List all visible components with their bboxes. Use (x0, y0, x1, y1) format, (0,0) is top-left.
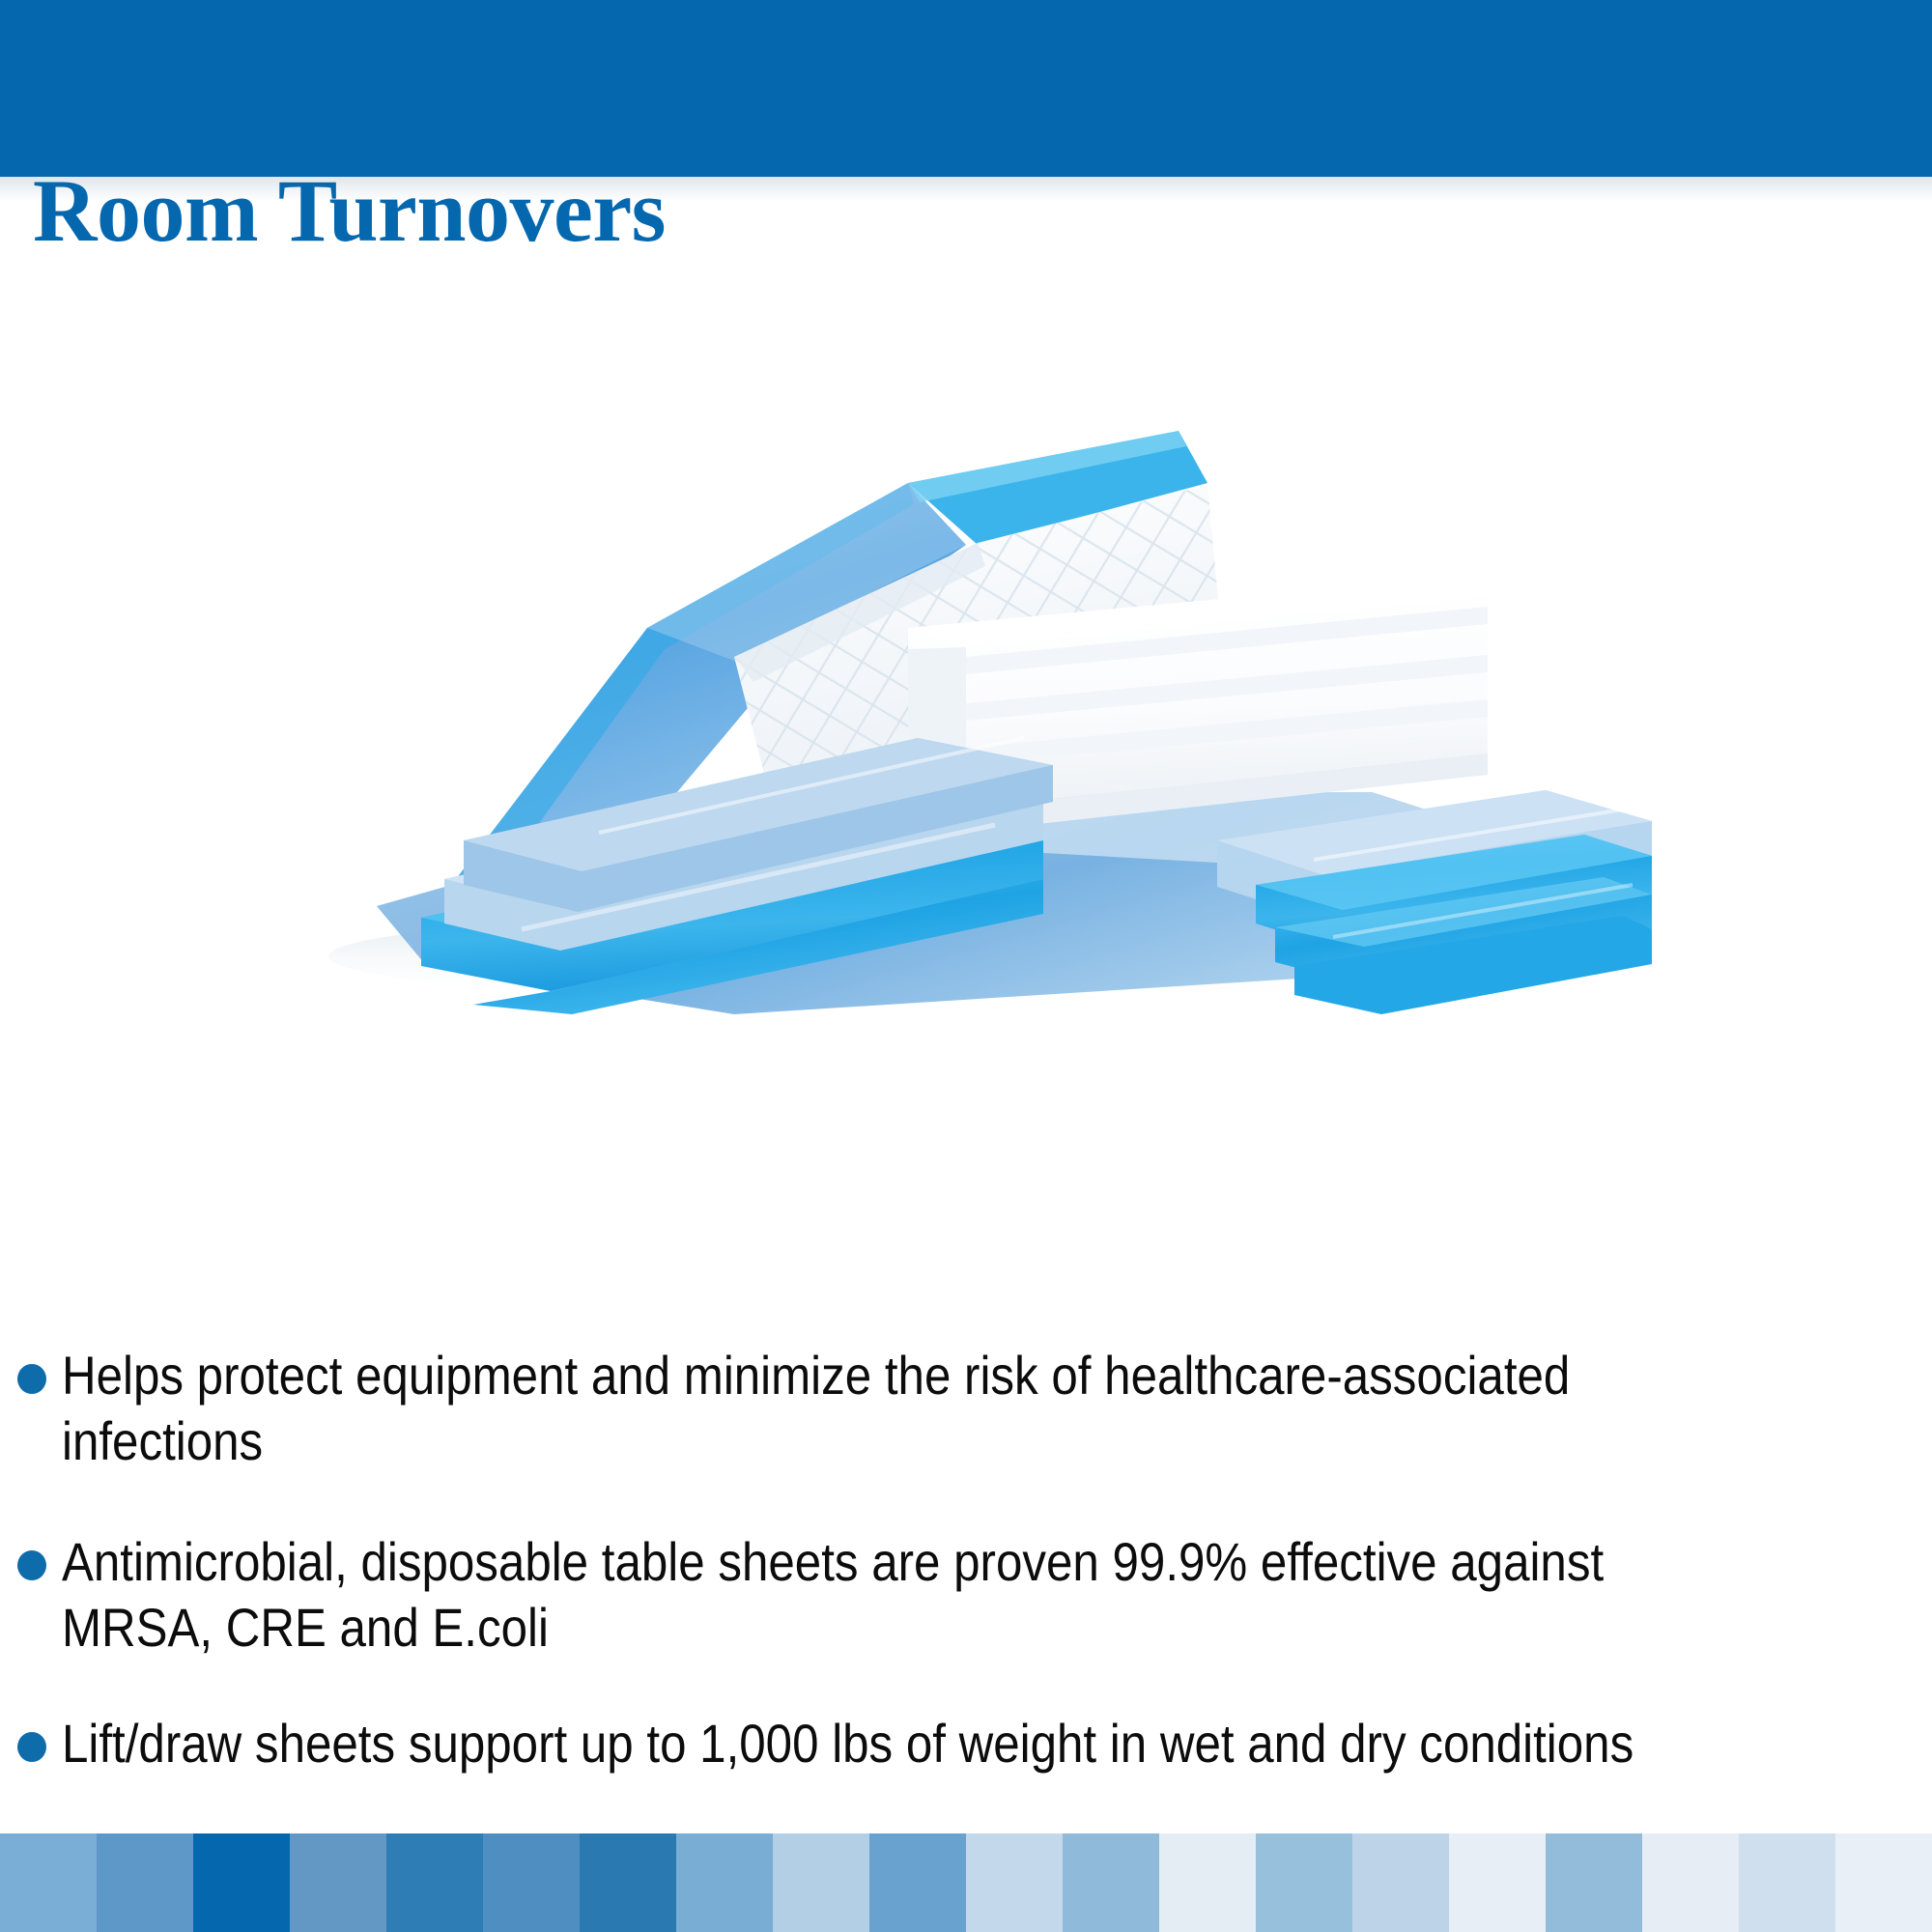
slide-root: Room Turnovers (0, 0, 1932, 1932)
list-item: Antimicrobial, disposable table sheets a… (0, 1529, 1932, 1662)
product-photo (232, 338, 1700, 1014)
color-swatch-3 (193, 1833, 290, 1932)
color-swatch-16 (1449, 1833, 1546, 1932)
bullet-list: Helps protect equipment and minimize the… (0, 1343, 1932, 1832)
header-band (0, 0, 1932, 177)
color-swatch-5 (386, 1833, 483, 1932)
color-swatch-8 (676, 1833, 773, 1932)
color-swatch-18 (1642, 1833, 1739, 1932)
color-swatch-11 (966, 1833, 1063, 1932)
color-swatch-6 (483, 1833, 580, 1932)
bullet-dot-icon (17, 1550, 46, 1580)
list-item: Lift/draw sheets support up to 1,000 lbs… (0, 1711, 1932, 1776)
footer-color-strip (0, 1833, 1932, 1932)
product-photo-illustration (232, 338, 1700, 1014)
color-swatch-4 (290, 1833, 386, 1932)
color-swatch-14 (1256, 1833, 1352, 1932)
color-swatch-15 (1352, 1833, 1449, 1932)
color-swatch-9 (773, 1833, 869, 1932)
bullet-text-1: Helps protect equipment and minimize the… (62, 1343, 1677, 1475)
color-swatch-19 (1739, 1833, 1835, 1932)
bullet-text-3: Lift/draw sheets support up to 1,000 lbs… (62, 1711, 1634, 1776)
color-swatch-2 (97, 1833, 193, 1932)
bullet-dot-icon (17, 1732, 46, 1762)
color-swatch-17 (1546, 1833, 1642, 1932)
color-swatch-10 (869, 1833, 966, 1932)
color-swatch-1 (0, 1833, 97, 1932)
color-swatch-20 (1835, 1833, 1932, 1932)
page-title: Room Turnovers (33, 164, 666, 258)
list-item: Helps protect equipment and minimize the… (0, 1343, 1932, 1475)
color-swatch-7 (580, 1833, 676, 1932)
bullet-dot-icon (17, 1364, 46, 1394)
bullet-text-2: Antimicrobial, disposable table sheets a… (62, 1529, 1677, 1662)
color-swatch-13 (1159, 1833, 1256, 1932)
color-swatch-12 (1063, 1833, 1159, 1932)
